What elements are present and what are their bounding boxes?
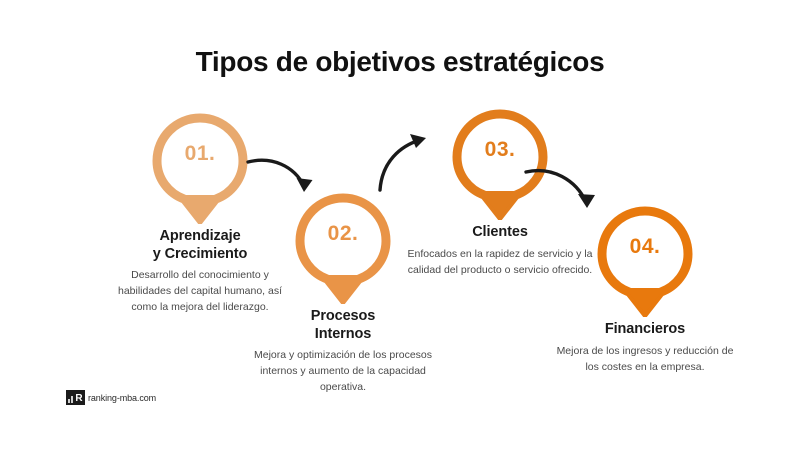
step-item-4: 04. Financieros Mejora de los ingresos y… bbox=[545, 205, 745, 376]
step-title-2-line2: Internos bbox=[243, 326, 443, 344]
watermark: R ranking-mba.com bbox=[66, 390, 156, 405]
step-title-2: Procesos Internos bbox=[243, 308, 443, 343]
pin-number-2: 02. bbox=[293, 222, 393, 246]
arrow-step1-to-step2 bbox=[244, 150, 334, 210]
step-description-4: Mejora de los ingresos y reducción de lo… bbox=[545, 344, 745, 376]
logo-letter: R bbox=[75, 394, 82, 403]
map-pin-icon bbox=[150, 112, 250, 224]
step-title-4: Financieros bbox=[545, 321, 745, 339]
step-description-2: Mejora y optimización de los procesos in… bbox=[243, 348, 443, 396]
logo-bar-2 bbox=[71, 396, 73, 403]
pin-number-1: 01. bbox=[150, 142, 250, 166]
ranking-mba-logo-icon: R bbox=[66, 390, 85, 405]
pin-1: 01. bbox=[150, 112, 250, 224]
page-title: Tipos de objetivos estratégicos bbox=[0, 46, 800, 78]
logo-bar-1 bbox=[68, 399, 70, 403]
arrow-step2-to-step3 bbox=[372, 120, 452, 200]
step-title-4-line1: Financieros bbox=[545, 321, 745, 339]
arrow-step3-to-step4 bbox=[522, 158, 612, 228]
infographic-canvas: Tipos de objetivos estratégicos 01. Apre… bbox=[0, 0, 800, 450]
pin-number-4: 04. bbox=[595, 235, 695, 259]
watermark-text: ranking-mba.com bbox=[88, 393, 156, 403]
step-title-2-line1: Procesos bbox=[243, 308, 443, 326]
